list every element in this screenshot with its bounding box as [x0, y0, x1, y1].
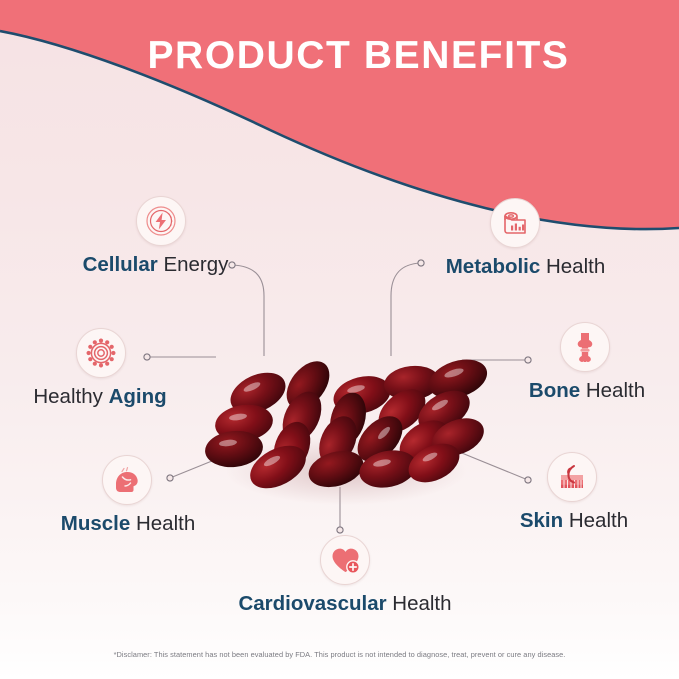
- benefit-bone-health[interactable]: Bone Health: [512, 322, 662, 402]
- connector-metabolic: [391, 263, 421, 356]
- label-plain: Health: [387, 592, 452, 615]
- skin-layers-icon: [547, 452, 597, 502]
- cell-rings-icon: [76, 328, 126, 378]
- benefit-cardiovascular-health[interactable]: Cardiovascular Health: [200, 535, 490, 615]
- label-plain: Healthy: [33, 385, 108, 408]
- label-bold: Cellular: [83, 253, 158, 276]
- benefit-cellular-energy[interactable]: Cellular Energy: [48, 196, 263, 276]
- benefit-label-cardiovascular-health: Cardiovascular Health: [200, 594, 490, 615]
- benefit-healthy-aging[interactable]: Healthy Aging: [6, 328, 194, 408]
- infographic-canvas: PRODUCT BENEFITS: [0, 0, 679, 679]
- page-title: PRODUCT BENEFITS: [0, 36, 679, 75]
- label-bold: Muscle: [61, 512, 131, 535]
- benefit-label-bone-health: Bone Health: [512, 381, 662, 402]
- lightning-bolt-icon: [136, 196, 186, 246]
- benefit-skin-health[interactable]: Skin Health: [494, 452, 654, 532]
- benefit-label-cellular-energy: Cellular Energy: [48, 255, 263, 276]
- label-plain: Health: [540, 255, 605, 278]
- benefit-label-healthy-aging: Healthy Aging: [6, 387, 194, 408]
- benefit-label-muscle-health: Muscle Health: [28, 514, 228, 535]
- disclaimer-text: *Disclamer: This statement has not been …: [0, 650, 679, 659]
- knee-joint-bone-icon: [560, 322, 610, 372]
- measuring-tape-icon: [490, 198, 540, 248]
- connector-cellular: [232, 265, 264, 356]
- label-bold: Cardiovascular: [238, 592, 386, 615]
- label-plain: Energy: [158, 253, 229, 276]
- flexed-bicep-icon: [102, 455, 152, 505]
- label-bold: Metabolic: [446, 255, 541, 278]
- label-bold: Bone: [529, 379, 580, 402]
- connector-dot-cardiovascular: [337, 527, 343, 533]
- benefit-muscle-health[interactable]: Muscle Health: [28, 455, 228, 535]
- benefit-metabolic-health[interactable]: Metabolic Health: [418, 198, 633, 278]
- product-capsules-image: [196, 345, 496, 515]
- benefit-label-skin-health: Skin Health: [494, 511, 654, 532]
- heart-cross-icon: [320, 535, 370, 585]
- label-plain: Health: [130, 512, 195, 535]
- label-bold: Aging: [109, 385, 167, 408]
- label-plain: Health: [563, 509, 628, 532]
- benefit-label-metabolic-health: Metabolic Health: [418, 257, 633, 278]
- capsule-cluster: [196, 345, 496, 515]
- label-plain: Health: [580, 379, 645, 402]
- label-bold: Skin: [520, 509, 563, 532]
